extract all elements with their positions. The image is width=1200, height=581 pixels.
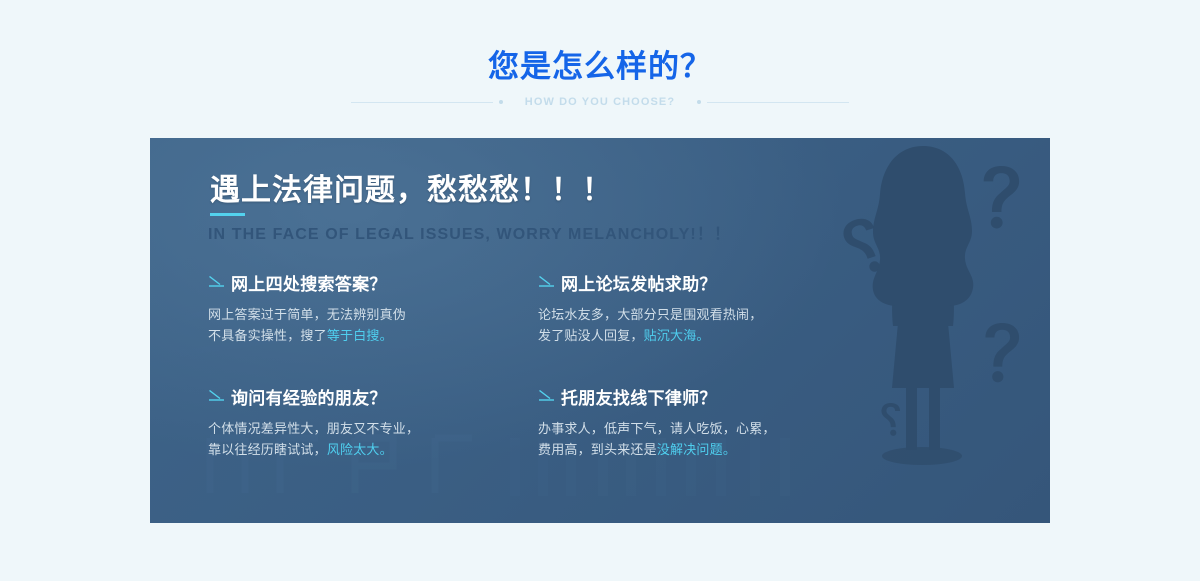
feature-body-line2-plain: 发了贴没人回复， <box>538 328 644 343</box>
feature-body-line2: 不具备实操性，搜了等于白搜。 <box>208 325 538 346</box>
feature-body: 论坛水友多，大部分只是围观看热闹， 发了贴没人回复，贴沉大海。 <box>538 304 808 346</box>
feature-heading-row: 网上四处搜索答案？ <box>208 270 538 295</box>
feature-heading-row: 托朋友找线下律师？ <box>538 384 808 409</box>
question-mark-icon <box>984 166 1019 229</box>
feature-body: 网上答案过于简单，无法辨别真伪 不具备实操性，搜了等于白搜。 <box>208 304 538 346</box>
divider-left-line <box>351 102 493 103</box>
slash-marker-icon <box>538 276 554 290</box>
feature-body-line2: 发了贴没人回复，贴沉大海。 <box>538 325 808 346</box>
divider-left <box>351 98 503 106</box>
feature-body-line2-plain: 费用高，到头来还是 <box>538 442 657 457</box>
panel-subtitle: IN THE FACE OF LEGAL ISSUES, WORRY MELAN… <box>208 220 731 244</box>
feature-heading-row: 询问有经验的朋友？ <box>208 384 538 409</box>
page-root: 您是怎么样的？ HOW DO YOU CHOOSE? <box>0 0 1200 581</box>
panel-title-accent-bar <box>210 213 245 216</box>
feature-heading-row: 网上论坛发帖求助？ <box>538 270 808 295</box>
divider-right-dot <box>697 100 701 104</box>
feature-body-highlight: 等于白搜 <box>327 328 380 343</box>
divider-left-dot <box>499 100 503 104</box>
page-subtitle: HOW DO YOU CHOOSE? <box>503 96 697 108</box>
feature-body-line2-tail: 。 <box>723 442 736 457</box>
feature-body-highlight: 风险太大 <box>327 442 380 457</box>
slash-marker-icon <box>208 390 224 404</box>
feature-body-line1: 个体情况差异性大，朋友又不专业， <box>208 418 538 439</box>
question-mark-icon <box>985 323 1019 382</box>
panel-title: 遇上法律问题，愁愁愁！！！ <box>210 165 613 209</box>
feature-heading: 网上四处搜索答案？ <box>231 270 387 295</box>
slash-marker-icon <box>538 390 554 404</box>
page-title: 您是怎么样的？ <box>0 48 1200 86</box>
feature-body-line1: 论坛水友多，大部分只是围观看热闹， <box>538 304 808 325</box>
slash-marker-icon <box>208 276 224 290</box>
figure-shadow <box>882 447 962 465</box>
feature-row: 网上四处搜索答案？ 网上答案过于简单，无法辨别真伪 不具备实操性，搜了等于白搜。 <box>208 270 808 346</box>
feature-item: 网上论坛发帖求助？ 论坛水友多，大部分只是围观看热闹， 发了贴没人回复，贴沉大海… <box>538 270 808 346</box>
feature-heading: 网上论坛发帖求助？ <box>561 270 717 295</box>
feature-body-line2-tail: 。 <box>696 328 709 343</box>
feature-grid: 网上四处搜索答案？ 网上答案过于简单，无法辨别真伪 不具备实操性，搜了等于白搜。 <box>208 270 808 460</box>
feature-row: 询问有经验的朋友？ 个体情况差异性大，朋友又不专业， 靠以往经历瞎试试，风险太大… <box>208 384 808 460</box>
divider-right <box>697 98 849 106</box>
slash-marker-glyph <box>539 276 554 287</box>
feature-body: 个体情况差异性大，朋友又不专业， 靠以往经历瞎试试，风险太大。 <box>208 418 538 460</box>
feature-body-line2: 靠以往经历瞎试试，风险太大。 <box>208 439 538 460</box>
slash-marker-glyph <box>209 390 224 401</box>
feature-item: 网上四处搜索答案？ 网上答案过于简单，无法辨别真伪 不具备实操性，搜了等于白搜。 <box>208 270 538 346</box>
divider-right-line <box>707 102 849 103</box>
question-mark-icon <box>881 403 900 436</box>
feature-body-line1: 网上答案过于简单，无法辨别真伪 <box>208 304 538 325</box>
feature-body: 办事求人，低声下气，请人吃饭，心累， 费用高，到头来还是没解决问题。 <box>538 418 808 460</box>
feature-body-line2: 费用高，到头来还是没解决问题。 <box>538 439 808 460</box>
woman-silhouette-illustration <box>774 138 1044 523</box>
feature-item: 询问有经验的朋友？ 个体情况差异性大，朋友又不专业， 靠以往经历瞎试试，风险太大… <box>208 384 538 460</box>
page-header: 您是怎么样的？ HOW DO YOU CHOOSE? <box>0 0 1200 130</box>
feature-body-highlight: 贴沉大海 <box>644 328 697 343</box>
header-subtitle-row: HOW DO YOU CHOOSE? <box>0 92 1200 112</box>
feature-body-line2-tail: 。 <box>380 442 393 457</box>
feature-heading: 询问有经验的朋友？ <box>231 384 387 409</box>
feature-heading: 托朋友找线下律师？ <box>561 384 717 409</box>
feature-body-line2-plain: 靠以往经历瞎试试， <box>208 442 327 457</box>
feature-body-line2-plain: 不具备实操性，搜了 <box>208 328 327 343</box>
feature-body-highlight: 没解决问题 <box>657 442 723 457</box>
feature-body-line2-tail: 。 <box>380 328 393 343</box>
feature-body-line1: 办事求人，低声下气，请人吃饭，心累， <box>538 418 808 439</box>
slash-marker-glyph <box>539 390 554 401</box>
slash-marker-glyph <box>209 276 224 287</box>
content-panel: 遇上法律问题，愁愁愁！！！ IN THE FACE OF LEGAL ISSUE… <box>150 138 1050 523</box>
feature-item: 托朋友找线下律师？ 办事求人，低声下气，请人吃饭，心累， 费用高，到头来还是没解… <box>538 384 808 460</box>
